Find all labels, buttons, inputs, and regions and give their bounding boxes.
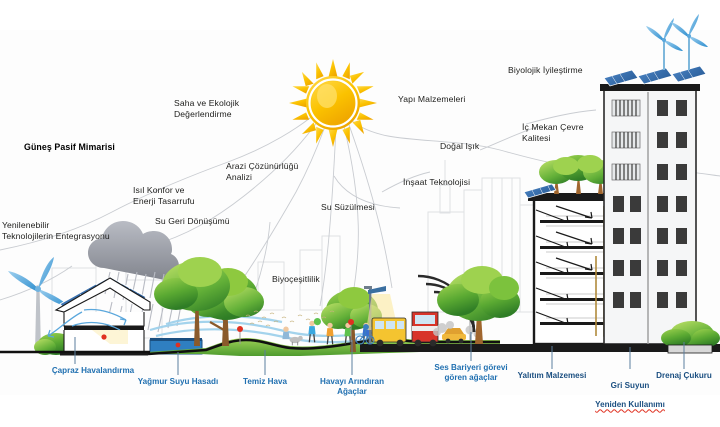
infographic-canvas: Güneş Pasif Mimarisi Yenilenebilir Tekno… xyxy=(0,0,720,427)
scene-artwork xyxy=(0,0,720,427)
label-saha-ve-ekolojik-degerlendirme: Saha ve Ekolojik Değerlendirme xyxy=(174,98,239,119)
sun-icon xyxy=(289,59,377,147)
label-isil-konfor-ve-enerji-tasarrufu: Isıl Konfor ve Enerji Tasarrufu xyxy=(133,185,195,206)
label-su-geri-donusumu: Su Geri Dönüşümü xyxy=(155,216,230,227)
marker-dot xyxy=(176,343,181,348)
label-yenilenebilir-teknolojilerin-entegrasyonu: Yenilenebilir Teknolojilerin Entegrasyon… xyxy=(2,220,110,241)
label-arazi-cozunurlugu-analizi: Arazi Çözünürlüğü Analizi xyxy=(226,161,298,182)
label-gunes-pasif-mimarisi: Güneş Pasif Mimarisi xyxy=(24,142,115,153)
label-yagmur-suyu-hasadi: Yağmur Suyu Hasadı xyxy=(126,377,230,387)
rooftop-solar-array xyxy=(604,66,706,86)
gri-suyun-line2: Yeniden Kullanımı xyxy=(595,400,665,409)
label-biyolojik-iyilestirme: Biyolojik İyileştirme xyxy=(508,65,583,76)
marker-dot xyxy=(101,334,106,339)
label-insaat-teknolojisi: İnşaat Teknolojisi xyxy=(403,177,470,188)
label-capraz-havalandirma: Çapraz Havalandırma xyxy=(28,366,158,376)
label-ic-mekan-cevre-kalitesi: İç Mekan Çevre Kalitesi xyxy=(522,122,584,143)
label-biyocesitlilik: Biyoçeşitlilik xyxy=(272,274,320,285)
wind-turbine-tower-b xyxy=(671,14,708,70)
truck xyxy=(412,312,438,346)
gri-suyun-line1: Gri Suyun xyxy=(611,381,650,390)
label-drenaj-cukuru: Drenaj Çukuru xyxy=(645,371,720,381)
tower-louvres xyxy=(612,100,640,180)
label-su-suzulmesi: Su Süzülmesi xyxy=(321,202,375,213)
label-havayi-arindiran-agaclar: Havayı Arındıran Ağaçlar xyxy=(305,377,399,397)
bus xyxy=(372,318,406,346)
label-temiz-hava: Temiz Hava xyxy=(230,377,300,387)
label-yapi-malzemeleri: Yapı Malzemeleri xyxy=(398,94,465,105)
label-dogal-isik: Doğal Işık xyxy=(440,141,479,152)
apartment-tower xyxy=(600,14,708,344)
